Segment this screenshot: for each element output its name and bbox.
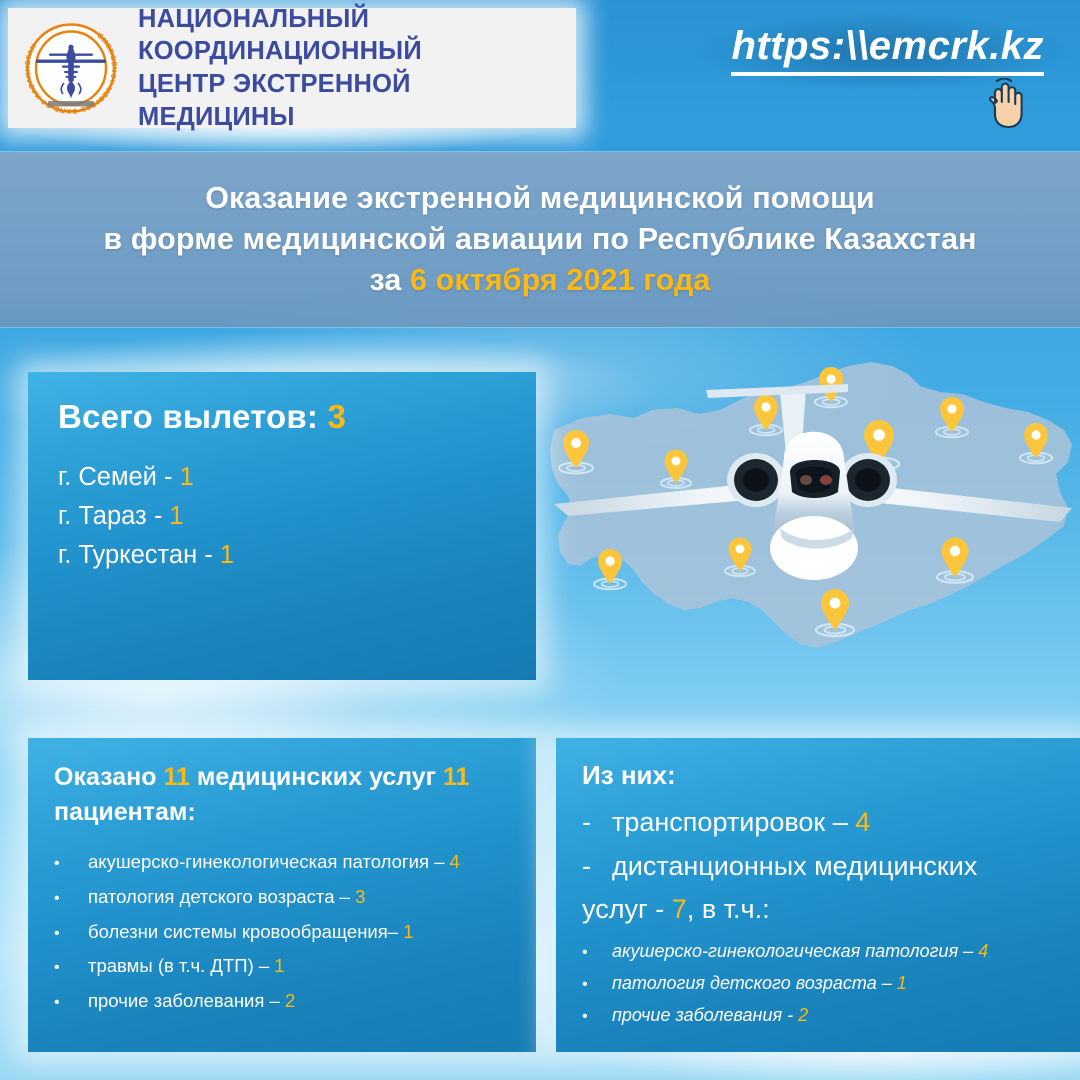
total-flights-label: Всего вылетов: [58,398,318,435]
service-label: акушерско-гинекологическая патология – 4 [88,845,460,880]
breakdown-value: 2 [798,1005,808,1025]
list-item: • прочие заболевания – 2 [54,984,510,1019]
pointing-hand-cursor-icon [982,78,1026,130]
service-value: 2 [285,990,295,1011]
breakdown-bullet-list: • акушерско-гинекологическая патология –… [582,935,1054,1031]
flight-city-row: г. Семей - 1 [58,458,506,497]
flight-city-count: 1 [169,502,183,530]
list-item: • акушерско-гинекологическая патология –… [54,845,510,880]
breakdown-label: прочие заболевания - 2 [612,999,808,1031]
bullet-dot-icon: • [582,977,612,993]
services-heading-part1: Оказано [54,763,164,791]
breakdown-remote-row-cont: услуг - 7, в т.ч.: [582,888,1054,931]
flight-city-name: г. Тараз - [58,502,162,530]
dash-marker-icon: - [582,845,612,889]
remote-label-suffix: , в т.ч.: [687,894,770,924]
kazakhstan-map-with-jet-illustration [548,352,1080,670]
flight-city-row: г. Тараз - 1 [58,497,506,536]
list-item: • травмы (в т.ч. ДТП) – 1 [54,949,510,984]
transport-label: транспортировок – 4 [612,801,870,845]
services-heading-part2: медицинских услуг [190,763,443,791]
services-count: 11 [164,763,190,791]
remote-label-line1: дистанционных медицинских [612,845,977,889]
page-title-line-1: Оказание экстренной медицинской помощи [205,178,875,219]
transport-value: 4 [855,807,870,837]
medical-services-panel: Оказано 11 медицинских услуг 11 пациента… [28,738,536,1052]
services-breakdown-panel: Из них: - транспортировок – 4 - дистанци… [556,738,1080,1052]
bullet-dot-icon: • [582,945,612,961]
title-report-date: 6 октября 2021 года [410,263,710,297]
page-title-line-3: за 6 октября 2021 года [370,260,711,301]
service-label: патология детского возраста – 3 [88,880,365,915]
service-value: 4 [450,851,460,872]
bullet-dot-icon: • [54,891,88,907]
service-label: прочие заболевания – 2 [88,984,295,1019]
patients-count: 11 [443,763,469,791]
site-url-block[interactable]: https:\\emcrk.kz [731,24,1044,76]
bullet-dot-icon: • [54,960,88,976]
breakdown-value: 1 [897,973,907,993]
flight-city-count: 1 [180,463,194,491]
services-bullet-list: • акушерско-гинекологическая патология –… [54,845,510,1019]
breakdown-label: патология детского возраста – 1 [612,967,907,999]
title-date-prefix: за [370,263,411,297]
page-title-line-2: в форме медицинской авиации по Республик… [103,219,976,260]
remote-label-prefix: услуг - [582,894,672,924]
services-heading-part3: пациентам: [54,798,196,826]
remote-value: 7 [672,894,687,924]
bullet-dot-icon: • [54,926,88,942]
list-item: • патология детского возраста – 3 [54,880,510,915]
bullet-dot-icon: • [54,856,88,872]
dash-marker-icon: - [582,801,612,845]
list-item: • болезни системы кровообращения– 1 [54,915,510,950]
service-value: 1 [274,955,284,976]
emergency-medical-care-logo-icon: EMERGENCY MEDICAL CARE OF KAZAKHSTAN [18,15,124,121]
bullet-dot-icon: • [582,1009,612,1025]
service-value: 3 [355,886,365,907]
breakdown-remote-row: - дистанционных медицинских [582,845,1054,889]
service-label: болезни системы кровообращения– 1 [88,915,414,950]
infographic-page: EMERGENCY MEDICAL CARE OF KAZAKHSTAN [0,0,1080,1080]
flight-city-name: г. Семей - [58,463,173,491]
breakdown-transport-row: - транспортировок – 4 [582,801,1054,845]
flight-city-row: г. Туркестан - 1 [58,536,506,575]
list-item: • акушерско-гинекологическая патология –… [582,935,1054,967]
flight-city-count: 1 [220,541,234,569]
total-flights-heading: Всего вылетов: 3 [58,398,506,436]
page-title-band: Оказание экстренной медицинской помощи в… [0,152,1080,327]
flight-city-name: г. Туркестан - [58,541,213,569]
service-value: 1 [403,921,413,942]
medical-services-heading: Оказано 11 медицинских услуг 11 пациента… [54,760,510,829]
breakdown-heading: Из них: [582,760,1054,791]
total-flights-value: 3 [327,398,346,435]
bullet-dot-icon: • [54,995,88,1011]
list-item: • патология детского возраста – 1 [582,967,1054,999]
breakdown-value: 4 [978,941,988,961]
list-item: • прочие заболевания - 2 [582,999,1054,1031]
site-url-link[interactable]: https:\\emcrk.kz [731,24,1044,76]
service-label: травмы (в т.ч. ДТП) – 1 [88,949,285,984]
organization-name: НАЦИОНАЛЬНЫЙ КООРДИНАЦИОННЫЙ ЦЕНТР ЭКСТР… [138,3,566,134]
breakdown-label: акушерско-гинекологическая патология – 4 [612,935,988,967]
flight-city-list: г. Семей - 1 г. Тараз - 1 г. Туркестан -… [58,458,506,574]
total-flights-panel: Всего вылетов: 3 г. Семей - 1 г. Тараз -… [28,372,536,680]
organization-logo-box: EMERGENCY MEDICAL CARE OF KAZAKHSTAN [8,8,576,128]
